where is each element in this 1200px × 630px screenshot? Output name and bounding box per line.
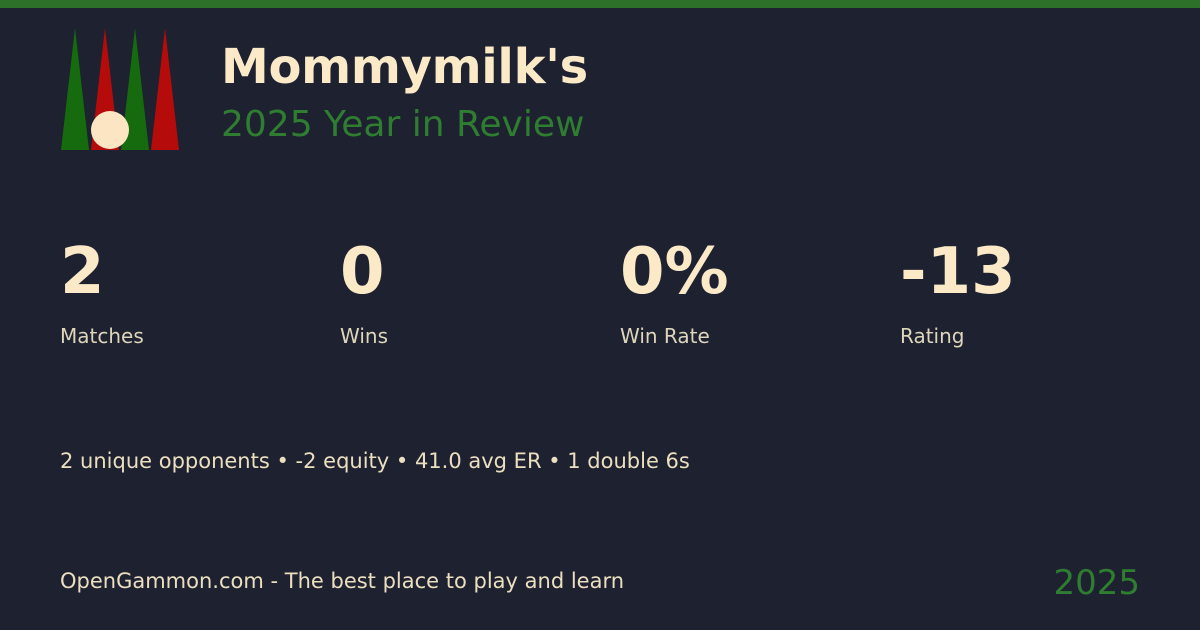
stat-value: 0	[340, 240, 620, 304]
page-title: Mommymilk's	[221, 43, 588, 91]
logo-point-1	[61, 28, 89, 150]
stat-wins: 0 Wins	[340, 240, 620, 346]
stat-value: -13	[900, 240, 1180, 304]
stat-label: Matches	[60, 326, 340, 346]
stat-win-rate: 0% Win Rate	[620, 240, 900, 346]
accent-bar	[0, 0, 1200, 8]
page-subtitle: 2025 Year in Review	[221, 107, 588, 143]
stat-value: 0%	[620, 240, 900, 304]
stats-row: 2 Matches 0 Wins 0% Win Rate -13 Rating	[60, 240, 1180, 346]
stat-label: Rating	[900, 326, 1180, 346]
header: Mommymilk's 2025 Year in Review	[60, 28, 588, 150]
stat-matches: 2 Matches	[60, 240, 340, 346]
footer-tagline: OpenGammon.com - The best place to play …	[60, 571, 624, 592]
stat-rating: -13 Rating	[900, 240, 1180, 346]
header-titles: Mommymilk's 2025 Year in Review	[221, 28, 588, 143]
backgammon-logo-icon	[60, 28, 180, 150]
year-in-review-card: Mommymilk's 2025 Year in Review 2 Matche…	[0, 0, 1200, 630]
summary-line: 2 unique opponents • -2 equity • 41.0 av…	[60, 451, 690, 472]
stat-label: Wins	[340, 326, 620, 346]
footer-year: 2025	[1053, 566, 1140, 600]
stat-label: Win Rate	[620, 326, 900, 346]
stat-value: 2	[60, 240, 340, 304]
logo-checker-icon	[91, 111, 129, 149]
logo-point-4	[151, 28, 179, 150]
